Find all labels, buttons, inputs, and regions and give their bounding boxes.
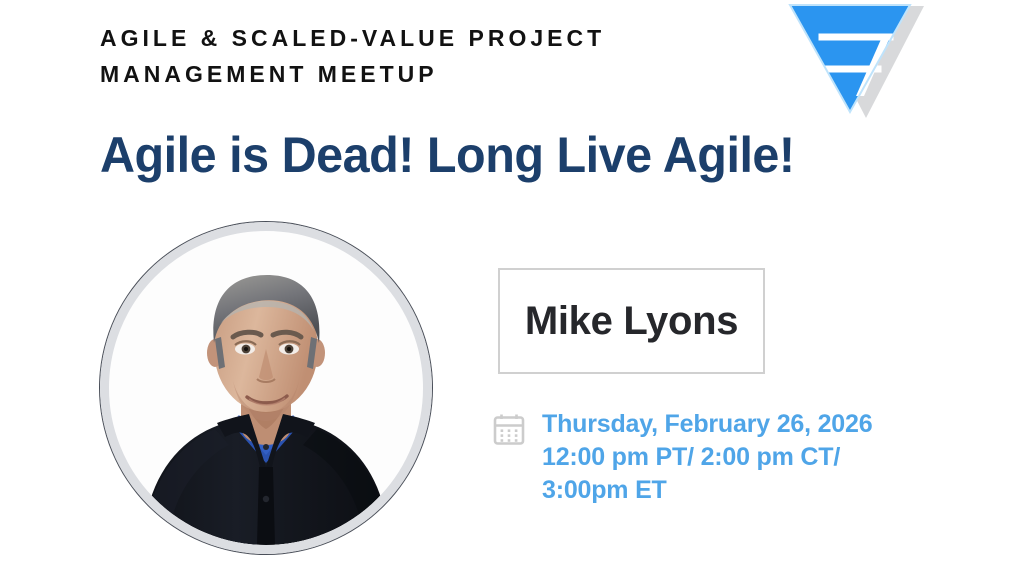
speaker-name-box: Mike Lyons (498, 268, 765, 374)
event-banner: AGILE & SCALED-VALUE PROJECT MANAGEMENT … (0, 0, 1024, 576)
speaker-headshot (109, 231, 423, 545)
avatar (100, 222, 432, 554)
brand-triangle-logo (786, 0, 926, 125)
page-title: Agile is Dead! Long Live Agile! (100, 126, 795, 184)
meetup-kicker: AGILE & SCALED-VALUE PROJECT MANAGEMENT … (100, 20, 780, 92)
event-date-text: Thursday, February 26, 2026 12:00 pm PT/… (542, 408, 872, 507)
brand-logo (786, 0, 926, 125)
speaker-name: Mike Lyons (525, 299, 738, 343)
avatar-image (109, 231, 423, 545)
calendar-icon (492, 412, 526, 446)
event-datetime: Thursday, February 26, 2026 12:00 pm PT/… (492, 408, 872, 507)
